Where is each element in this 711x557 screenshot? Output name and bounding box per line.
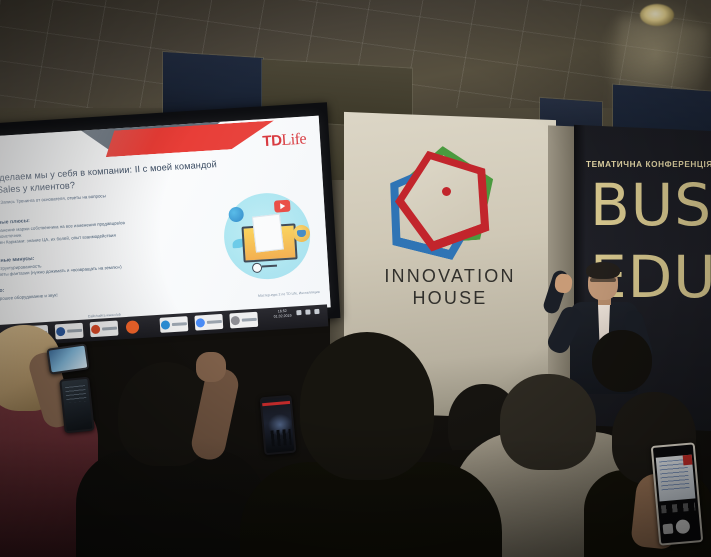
presenter-hair xyxy=(586,262,620,279)
taskbar-app-chrome-icon[interactable] xyxy=(194,314,223,331)
taskbar-app-powerpoint-icon[interactable] xyxy=(90,321,119,338)
phone-viewfinder-accent xyxy=(683,455,693,466)
tray-volume-icon[interactable] xyxy=(305,309,310,314)
taskbar-clock[interactable]: 16:52 01.02.2019 xyxy=(273,309,292,320)
document-page-icon xyxy=(252,214,284,253)
audience-man-center-head xyxy=(300,332,434,480)
slide-block-plus: Основные плюсы: Сохранение маржи собстве… xyxy=(0,208,183,247)
phone-gallery-thumbnail[interactable] xyxy=(663,523,674,534)
phone-recording-left-top[interactable] xyxy=(46,343,89,374)
tray-battery-icon[interactable] xyxy=(314,309,319,314)
phone-screen xyxy=(49,346,88,373)
presenter-hand xyxy=(554,273,573,294)
phone-screen xyxy=(653,444,701,543)
slide-illustration xyxy=(221,191,312,282)
slide-block-important: Важно: Хорошее оборудование и звук! xyxy=(0,276,186,303)
taskbar-app-word-icon[interactable] xyxy=(55,323,84,340)
conference-photo: INNOVATION HOUSE ТЕМАТИЧНА КОНФЕРЕНЦІЯ B… xyxy=(0,0,711,557)
phone-recording-center[interactable] xyxy=(260,395,297,456)
taskbar-app-folder-icon[interactable] xyxy=(229,312,258,329)
taskbar-clock-date: 01.02.2019 xyxy=(274,314,292,320)
audience-head-back-row xyxy=(592,330,652,392)
logo-dot-icon xyxy=(442,187,451,196)
innovation-house-line1: INNOVATION xyxy=(344,266,556,287)
phone-record-bar xyxy=(262,401,290,406)
innovation-house-line2: HOUSE xyxy=(344,288,556,309)
youtube-icon xyxy=(274,200,291,213)
projection-screen: TDLife Что делаем мы у себя в компании: … xyxy=(0,116,331,329)
progress-control-icon xyxy=(252,262,278,272)
conference-kicker: ТЕМАТИЧНА КОНФЕРЕНЦІЯ xyxy=(586,160,711,169)
slide-title: Что делаем мы у себя в компании: II с мо… xyxy=(0,157,232,197)
tray-network-icon[interactable] xyxy=(296,310,301,315)
taskbar-system-tray[interactable] xyxy=(296,309,319,315)
td-logo-text: TD xyxy=(262,132,282,150)
social-icon-blue xyxy=(228,207,244,223)
taskbar-app-skype-icon[interactable] xyxy=(159,316,188,333)
taskbar-app-firefox-icon[interactable] xyxy=(125,318,154,335)
phone-camera-mode-strip[interactable] xyxy=(661,502,696,513)
presenter-glasses-icon xyxy=(590,278,616,282)
td-life-logo: TDLife xyxy=(262,131,307,152)
conference-headline-1: BUS xyxy=(590,176,711,234)
slide-block-minus: Основные минусы: Неструктурированность П… xyxy=(0,246,185,279)
phone-screen-figures xyxy=(270,429,291,447)
life-logo-text: Life xyxy=(281,131,307,150)
phone-screen xyxy=(262,397,295,453)
social-icon-yellow xyxy=(292,224,310,242)
presentation-slide: TDLife Что делаем мы у себя в компании: … xyxy=(0,116,331,329)
slide-footer-right: Мастер-курс 2 по TD Life, Инсталляция xyxy=(258,290,320,298)
audience-hand xyxy=(196,352,226,382)
phone-recording-right[interactable] xyxy=(651,442,704,545)
phone-shutter-button[interactable] xyxy=(675,519,690,534)
audience-man-short-hair-body xyxy=(76,450,266,557)
phone-screen xyxy=(61,379,92,431)
audience-man-light-shirt-head xyxy=(500,374,596,470)
phone-recording-left-lower[interactable] xyxy=(59,377,94,434)
